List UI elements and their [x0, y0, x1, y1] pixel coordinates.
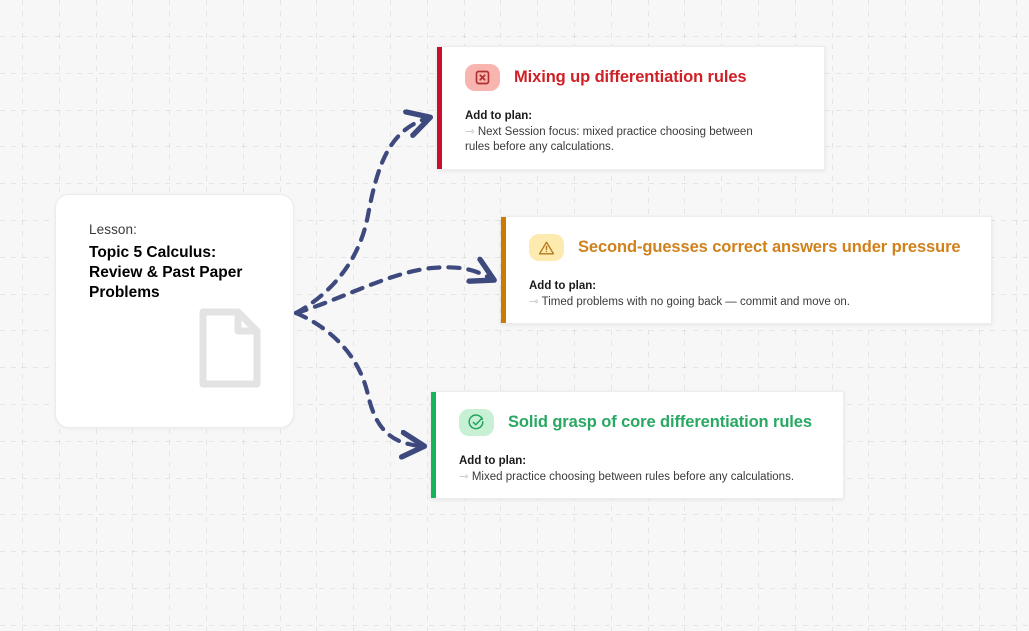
lesson-title: Topic 5 Calculus: Review & Past Paper Pr… — [89, 243, 249, 302]
plan-text: ⇾ Mixed practice choosing between rules … — [459, 470, 839, 485]
plan-label: Add to plan: — [529, 280, 991, 294]
grid-line-horizontal — [0, 183, 1029, 184]
grid-line-vertical — [390, 0, 391, 631]
grid-line-horizontal — [0, 588, 1029, 589]
plan-text: ⇾ Next Session focus: mixed practice cho… — [465, 125, 767, 156]
document-icon — [198, 308, 262, 393]
warning-triangle-icon — [529, 234, 564, 261]
plan-text-content: Next Session focus: mixed practice choos… — [465, 126, 753, 153]
grid-line-vertical — [353, 0, 354, 631]
grid-line-vertical — [316, 0, 317, 631]
lesson-node[interactable]: Lesson: Topic 5 Calculus: Review & Past … — [55, 194, 294, 428]
insight-card-mistake[interactable]: Mixing up differentiation rules Add to p… — [437, 46, 825, 170]
grid-line-vertical — [1016, 0, 1017, 631]
plan-label: Add to plan: — [465, 110, 824, 124]
check-circle-icon — [459, 409, 494, 436]
grid-line-vertical — [22, 0, 23, 631]
grid-line-horizontal — [0, 514, 1029, 515]
card-header: Mixing up differentiation rules — [465, 64, 824, 91]
accent-bar — [437, 47, 442, 169]
plan-block: Add to plan: ⇾ Next Session focus: mixed… — [465, 110, 824, 155]
accent-bar — [431, 392, 436, 498]
x-square-icon — [465, 64, 500, 91]
plan-text-content: Mixed practice choosing between rules be… — [472, 471, 794, 483]
plan-block: Add to plan: ⇾ Mixed practice choosing b… — [459, 455, 843, 485]
card-title: Second-guesses correct answers under pre… — [578, 238, 961, 257]
plan-arrow-icon: ⇾ — [465, 126, 475, 138]
grid-line-horizontal — [0, 36, 1029, 37]
accent-bar — [501, 217, 506, 323]
lesson-label: Lesson: — [89, 221, 293, 239]
card-title: Mixing up differentiation rules — [514, 68, 747, 87]
plan-text-content: Timed problems with no going back — comm… — [542, 296, 850, 308]
plan-label: Add to plan: — [459, 455, 843, 469]
grid-line-vertical — [427, 0, 428, 631]
grid-line-horizontal — [0, 625, 1029, 626]
card-header: Solid grasp of core differentiation rule… — [459, 409, 843, 436]
card-title: Solid grasp of core differentiation rule… — [508, 413, 812, 432]
grid-line-horizontal — [0, 551, 1029, 552]
insight-card-strength[interactable]: Solid grasp of core differentiation rule… — [431, 391, 844, 499]
plan-arrow-icon: ⇾ — [529, 296, 539, 308]
plan-block: Add to plan: ⇾ Timed problems with no go… — [529, 280, 991, 310]
insight-card-pressure[interactable]: Second-guesses correct answers under pre… — [501, 216, 992, 324]
plan-text: ⇾ Timed problems with no going back — co… — [529, 295, 949, 310]
plan-arrow-icon: ⇾ — [459, 471, 469, 483]
card-header: Second-guesses correct answers under pre… — [529, 234, 991, 261]
